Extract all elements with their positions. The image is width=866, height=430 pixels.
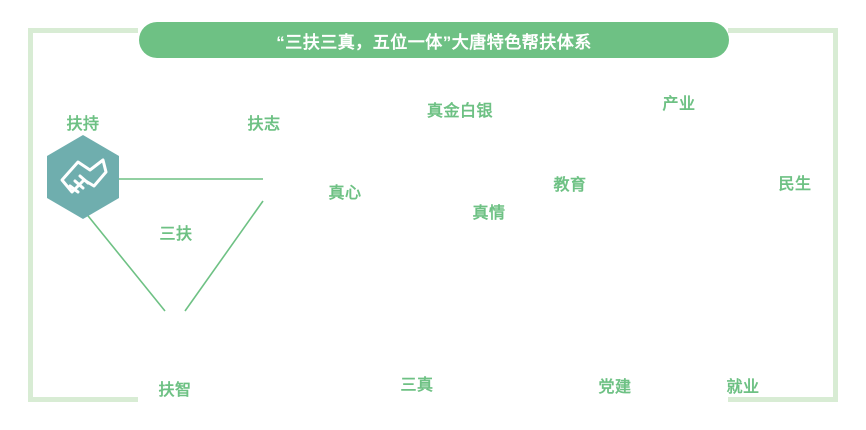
infographic-canvas: “三扶三真，五位一体”大唐特色帮扶体系	[0, 0, 866, 430]
label-zhenqing: 真情	[472, 199, 505, 223]
triangle-node-fuchi[interactable]	[47, 135, 119, 219]
label-zhenjinbaiyin: 真金白银	[427, 97, 493, 121]
label-jiaoyu: 教育	[553, 171, 586, 195]
diagram-artwork	[0, 0, 866, 430]
label-chanye: 产业	[662, 90, 695, 114]
triangle-group	[47, 135, 263, 311]
label-dangjian: 党建	[598, 373, 631, 397]
triangle-edge-left	[76, 201, 165, 311]
label-branch-base: 三真	[400, 371, 433, 395]
label-triangle-center: 三扶	[159, 220, 192, 244]
label-minsheng: 民生	[778, 170, 811, 194]
label-jiuye: 就业	[726, 373, 759, 397]
pentagon-center-label-line2: 一体	[662, 251, 695, 268]
label-fuzhi-wisdom: 扶智	[158, 376, 191, 400]
pentagon-center-label-line1: 五位	[662, 231, 695, 248]
label-zhenxin: 真心	[328, 179, 361, 203]
triangle-edge-right	[185, 201, 263, 311]
label-fuzhi-will: 扶志	[247, 110, 280, 134]
label-fuchi: 扶持	[66, 110, 99, 134]
